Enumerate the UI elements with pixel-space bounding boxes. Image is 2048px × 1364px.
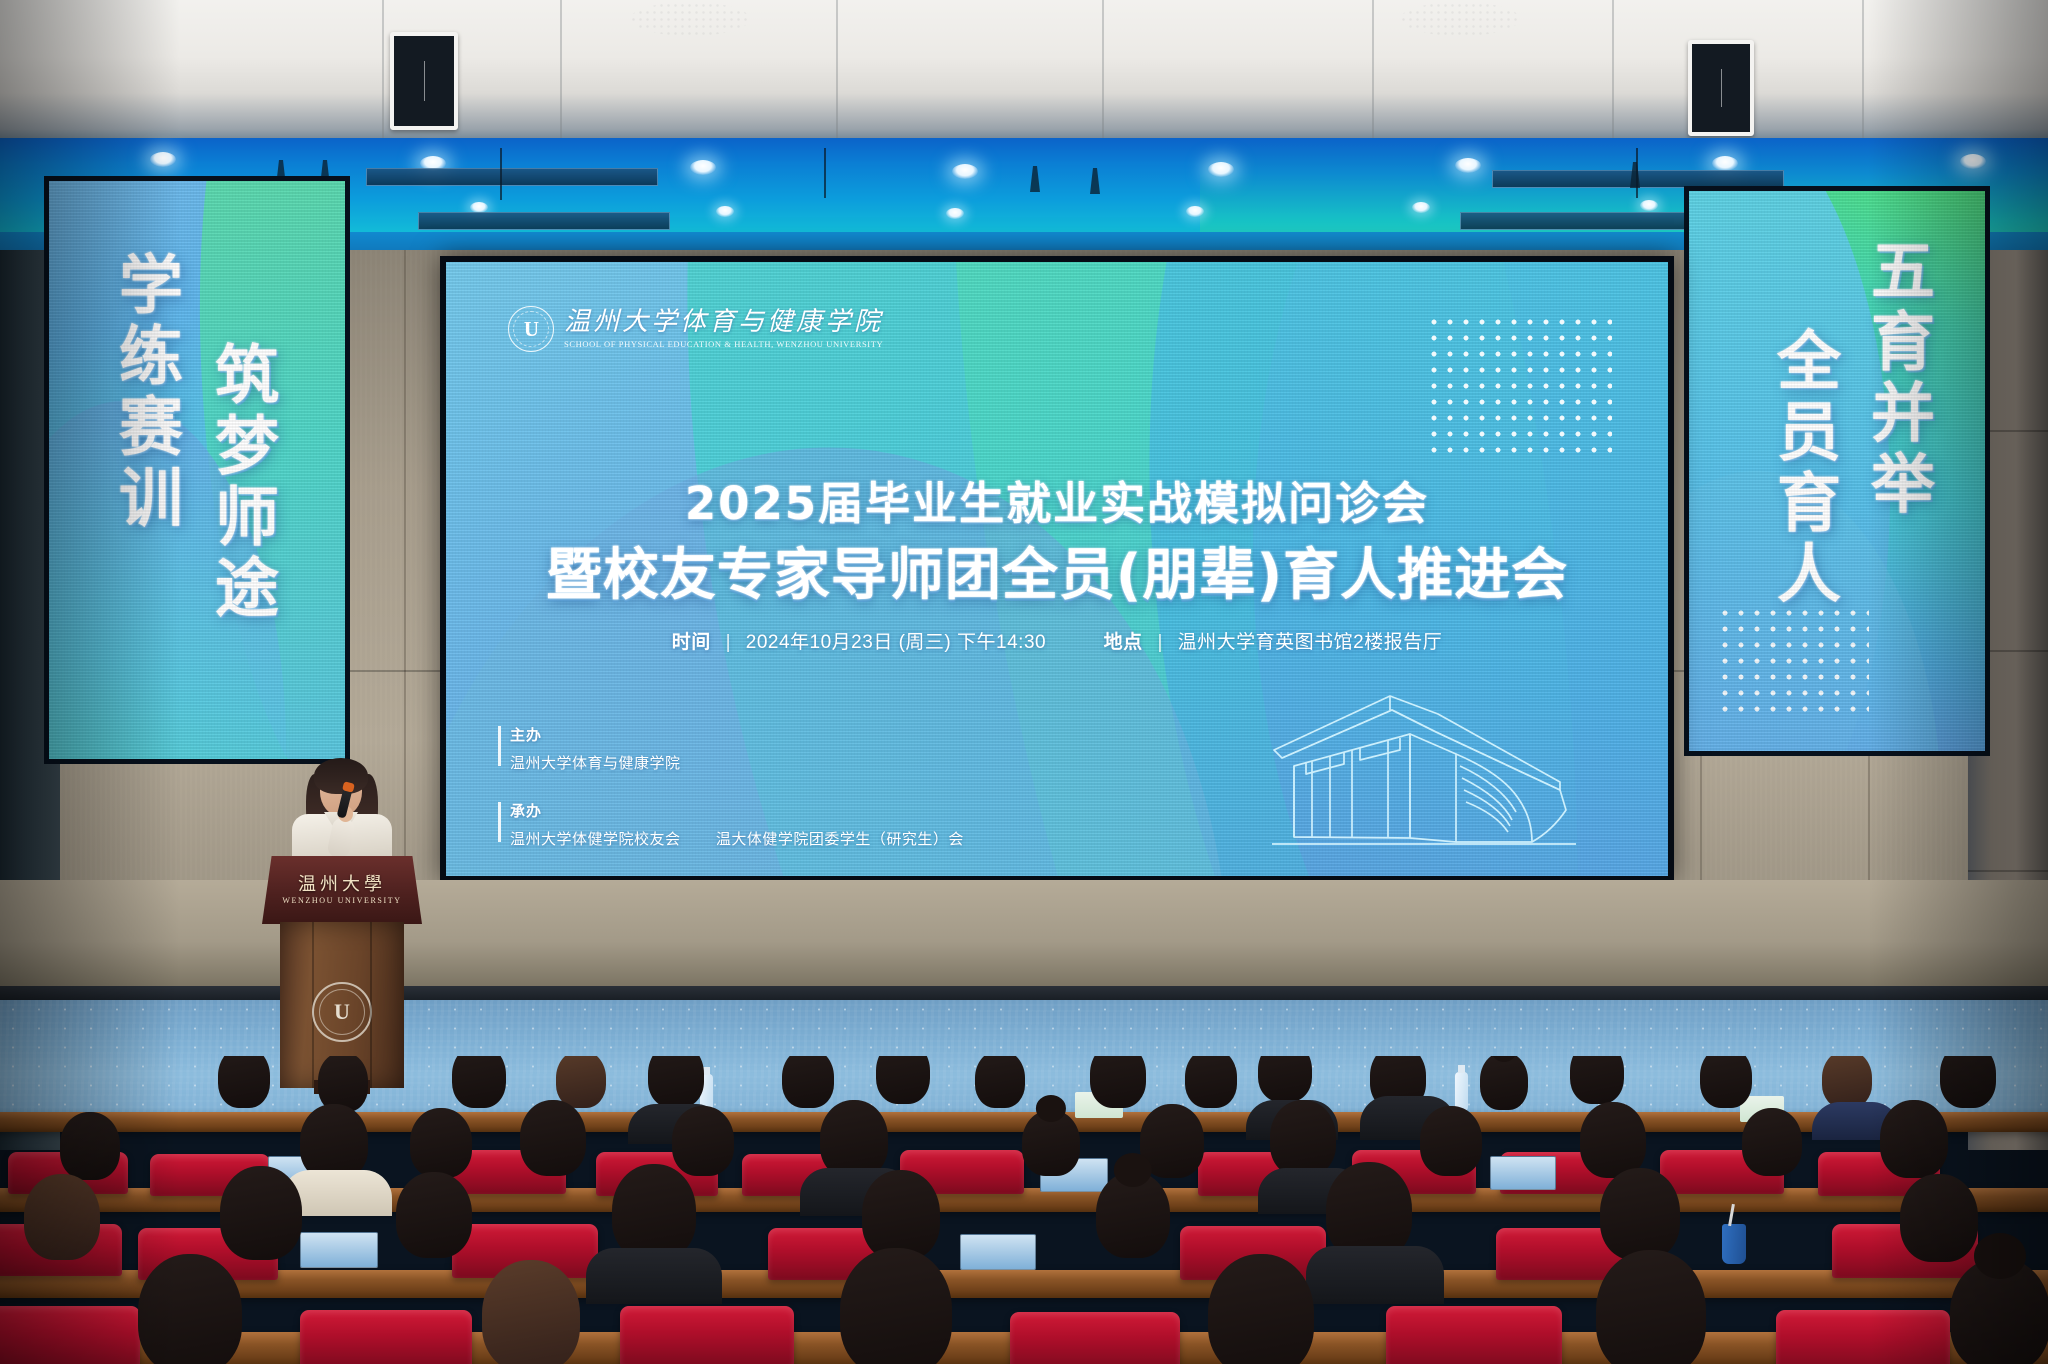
theater-seat (1386, 1306, 1562, 1364)
event-title-line-1: 2025届毕业生就业实战模拟问诊会 (446, 467, 1668, 532)
drink-cup (1722, 1224, 1746, 1264)
podium-name-en: WENZHOU UNIVERSITY (262, 896, 422, 905)
school-logo: U 温州大学体育与健康学院 SCHOOL OF PHYSICAL EDUCATI… (508, 306, 883, 352)
meta-separator-2: | (1157, 632, 1162, 654)
right-panel-slogan-1: 五育并举 (1851, 237, 1943, 521)
right-panel-slogan-2: 全员育人 (1757, 327, 1849, 611)
event-meta-line: 时间 | 2024年10月23日 (周三) 下午14:30 地点 | 温州大学育… (446, 627, 1668, 654)
event-title-line-2: 暨校友专家导师团全员(朋辈)育人推进会 (446, 530, 1668, 611)
lectern-podium: 温州大學 WENZHOU UNIVERSITY U (262, 856, 422, 1088)
place-label: 地点 (1104, 632, 1143, 653)
school-name-en: SCHOOL OF PHYSICAL EDUCATION & HEALTH, W… (564, 340, 883, 349)
organizer-host-block: 主办 温州大学体育与健康学院 (510, 724, 681, 773)
audience-seating (0, 1056, 2048, 1364)
dot-grid-decoration-right (1717, 605, 1869, 721)
theater-seat (1010, 1312, 1180, 1364)
emblem-letter: U (524, 317, 538, 342)
time-value: 2024年10月23日 (周三) 下午14:30 (746, 632, 1046, 653)
theater-seat (1776, 1310, 1950, 1364)
coorganizer-name-a: 温州大学体健学院校友会 (510, 831, 681, 848)
left-panel-slogan-1: 学练赛训 (99, 251, 191, 535)
coorganizer-role-label: 承办 (510, 800, 964, 821)
coorganizer-name-b: 温大体健学院团委学生（研究生）会 (716, 831, 964, 848)
left-panel-slogan-2: 筑梦师途 (195, 341, 287, 625)
host-name: 温州大学体育与健康学院 (510, 752, 681, 773)
theater-seat (300, 1310, 472, 1364)
ceiling-speaker-left (390, 32, 458, 130)
library-building-illustration-icon (1260, 662, 1590, 862)
organizer-coorganizer-block: 承办 温州大学体健学院校友会 温大体健学院团委学生（研究生）会 (510, 800, 964, 849)
dot-grid-decoration-screen (1426, 314, 1612, 462)
theater-seat (0, 1306, 140, 1364)
led-panel-left: 学练赛训 筑梦师途 (44, 176, 350, 764)
podium-name-cn: 温州大學 (262, 870, 422, 896)
auditorium-scene: 学练赛训 筑梦师途 五育并举 全员育人 (0, 0, 2048, 1364)
university-seal-icon: U (312, 982, 372, 1042)
ceiling-panels (0, 0, 2048, 150)
led-panel-right: 五育并举 全员育人 (1684, 186, 1990, 756)
theater-seat (620, 1306, 794, 1364)
school-name-cn: 温州大学体育与健康学院 (564, 309, 883, 335)
host-role-label: 主办 (510, 724, 681, 745)
main-led-screen: U 温州大学体育与健康学院 SCHOOL OF PHYSICAL EDUCATI… (440, 256, 1674, 882)
wenzhou-u-emblem-icon: U (508, 306, 554, 352)
place-value: 温州大学育英图书馆2楼报告厅 (1178, 632, 1443, 653)
meta-separator-1: | (726, 632, 731, 654)
desk-row (0, 1270, 2048, 1298)
seal-letter: U (334, 999, 350, 1025)
ceiling-speaker-right (1688, 40, 1754, 136)
time-label: 时间 (672, 632, 711, 653)
